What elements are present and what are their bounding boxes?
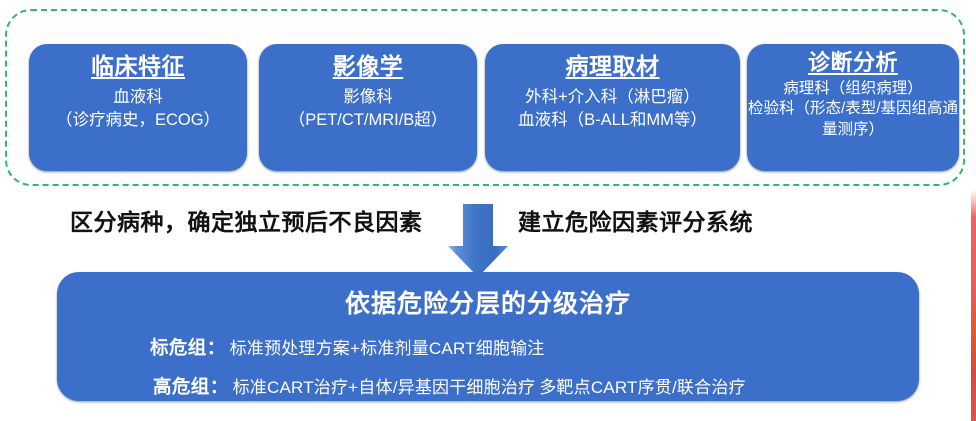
risk-group-label: 标危组： — [150, 334, 226, 360]
diagram-canvas: 临床特征 血液科 （诊疗病史，ECOG） 影像学 影像科 （PET/CT/MRI… — [0, 0, 976, 421]
pillar-card-line: 外科+介入科（淋巴瘤） — [485, 86, 740, 109]
pillar-card-title: 临床特征 — [29, 54, 247, 80]
pillar-card-title: 病理取材 — [485, 54, 740, 80]
pillar-card-imaging: 影像学 影像科 （PET/CT/MRI/B超） — [259, 44, 477, 171]
risk-group-regimen-extra: 多靶点CART序贯/联合治疗 — [539, 373, 746, 398]
pillar-card-clinical-features: 临床特征 血液科 （诊疗病史，ECOG） — [29, 44, 247, 171]
pillar-card-body: 外科+介入科（淋巴瘤） 血液科（B-ALL和MM等） — [485, 86, 740, 133]
pillar-card-line: （PET/CT/MRI/B超） — [259, 109, 477, 132]
pillar-card-body: 影像科 （PET/CT/MRI/B超） — [259, 86, 477, 133]
caption-stratify-disease: 区分病种，确定独立预后不良因素 — [70, 203, 423, 237]
risk-row-standard: 标危组： 标准预处理方案+标准剂量CART细胞输注 — [57, 334, 919, 360]
pillar-card-body: 血液科 （诊疗病史，ECOG） — [29, 86, 247, 133]
pillar-card-diagnostic-analysis: 诊断分析 病理科（组织病理） 检验科（形态/表型/基因组高通量测序） — [747, 44, 959, 171]
risk-row-high: 高危组： 标准CART治疗+自体/异基因干细胞治疗 多靶点CART序贯/联合治疗 — [57, 373, 919, 399]
pillar-card-line: 影像科 — [259, 86, 477, 109]
pillar-card-line: （诊疗病史，ECOG） — [29, 109, 247, 132]
risk-group-regimen: 标准CART治疗+自体/异基因干细胞治疗 — [233, 373, 536, 398]
pillar-card-line: 检验科（形态/表型/基因组高通量测序） — [747, 99, 959, 141]
caption-build-scoring-system: 建立危险因素评分系统 — [518, 203, 753, 237]
right-edge-stripe — [971, 190, 976, 421]
pillar-card-line: 血液科 — [29, 86, 247, 109]
pillar-card-body: 病理科（组织病理） 检验科（形态/表型/基因组高通量测序） — [747, 79, 959, 141]
risk-group-label: 高危组： — [153, 373, 229, 399]
panel-title: 依据危险分层的分级治疗 — [57, 284, 919, 320]
pillar-card-line: 病理科（组织病理） — [747, 79, 959, 100]
pillar-card-pathology-sampling: 病理取材 外科+介入科（淋巴瘤） 血液科（B-ALL和MM等） — [485, 44, 740, 171]
pillar-card-line: 血液科（B-ALL和MM等） — [485, 109, 740, 132]
pillar-card-title: 诊断分析 — [747, 51, 959, 76]
pillar-card-title: 影像学 — [259, 54, 477, 80]
assessment-group-container: 临床特征 血液科 （诊疗病史，ECOG） 影像学 影像科 （PET/CT/MRI… — [5, 9, 965, 186]
down-arrow-icon — [447, 202, 509, 278]
risk-group-regimen: 标准预处理方案+标准剂量CART细胞输注 — [230, 334, 545, 359]
risk-stratified-treatment-panel: 依据危险分层的分级治疗 标危组： 标准预处理方案+标准剂量CART细胞输注 高危… — [57, 272, 919, 401]
